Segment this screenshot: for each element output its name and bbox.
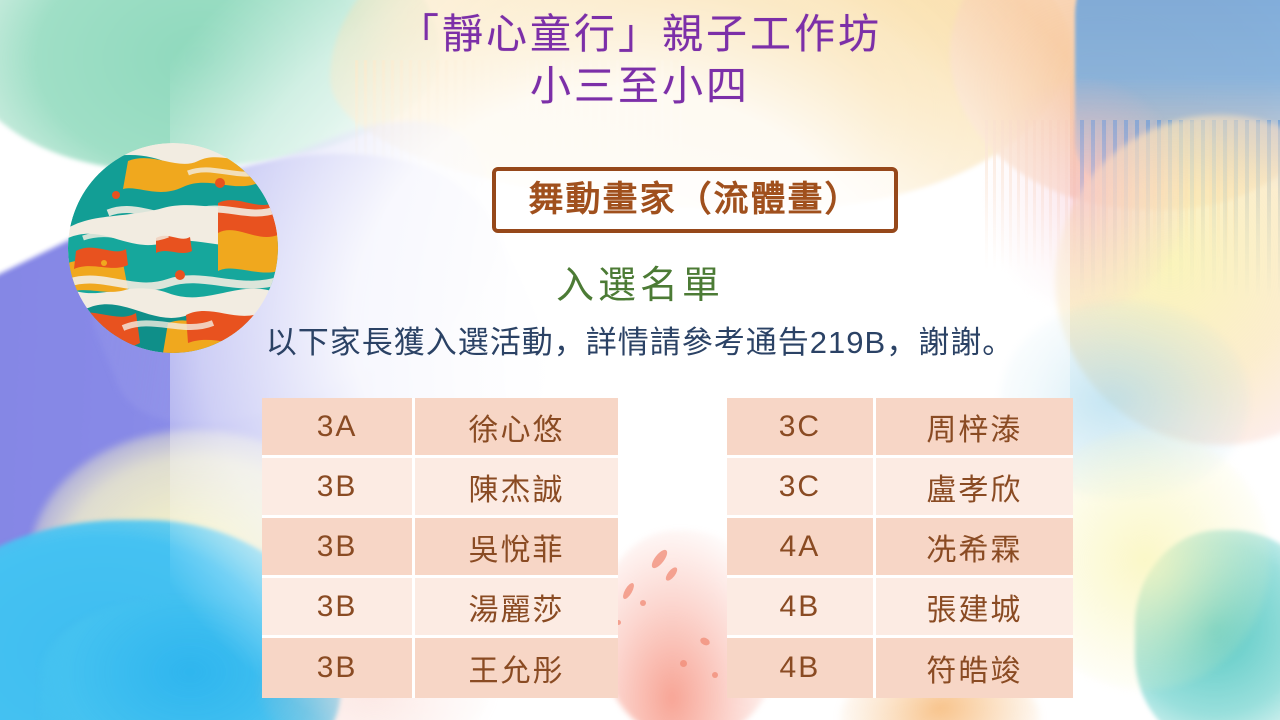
table-row: 3B 湯麗莎 [262,578,618,638]
table-row: 3B 陳杰誠 [262,458,618,518]
table-row: 4A 冼希霖 [727,518,1073,578]
row-class: 3B [262,638,415,698]
table-row: 3B 王允彤 [262,638,618,698]
row-name: 符皓竣 [876,638,1073,698]
row-class: 3B [262,578,415,638]
title-line-1: 「靜心童行」親子工作坊 [0,8,1280,60]
table-row: 4B 張建城 [727,578,1073,638]
row-class: 3B [262,458,415,518]
poster-canvas: 「靜心童行」親子工作坊 小三至小四 舞動畫家（流體畫） 入選名單 以下家長獲入選… [0,0,1280,720]
row-name: 王允彤 [415,638,618,698]
row-name: 盧孝欣 [876,458,1073,518]
description-text: 以下家長獲入選活動，詳情請參考通告219B，謝謝。 [0,322,1280,364]
table-row: 3C 盧孝欣 [727,458,1073,518]
row-class: 3C [727,398,876,458]
row-name: 周梓溙 [876,398,1073,458]
table-row: 3C 周梓溙 [727,398,1073,458]
row-name: 陳杰誠 [415,458,618,518]
roster-tables: 3A 徐心悠 3B 陳杰誠 3B 吳悅菲 3B 湯麗莎 [0,398,1280,703]
row-name: 吳悅菲 [415,518,618,578]
table-row: 4B 符皓竣 [727,638,1073,698]
section-heading: 入選名單 [0,263,1280,309]
subtitle-label: 舞動畫家（流體畫） [528,180,861,220]
roster-table-right: 3C 周梓溙 3C 盧孝欣 4A 冼希霖 4B 張建城 [727,398,1073,698]
row-class: 3A [262,398,415,458]
row-name: 湯麗莎 [415,578,618,638]
row-name: 張建城 [876,578,1073,638]
row-class: 3C [727,458,876,518]
row-class: 4A [727,518,876,578]
row-class: 3B [262,518,415,578]
row-name: 徐心悠 [415,398,618,458]
row-class: 4B [727,638,876,698]
row-name: 冼希霖 [876,518,1073,578]
table-row: 3B 吳悅菲 [262,518,618,578]
row-class: 4B [727,578,876,638]
table-row: 3A 徐心悠 [262,398,618,458]
poster-title: 「靜心童行」親子工作坊 小三至小四 [0,8,1280,112]
subtitle-box: 舞動畫家（流體畫） [492,167,898,233]
roster-table-left: 3A 徐心悠 3B 陳杰誠 3B 吳悅菲 3B 湯麗莎 [262,398,618,698]
title-line-2: 小三至小四 [0,60,1280,112]
